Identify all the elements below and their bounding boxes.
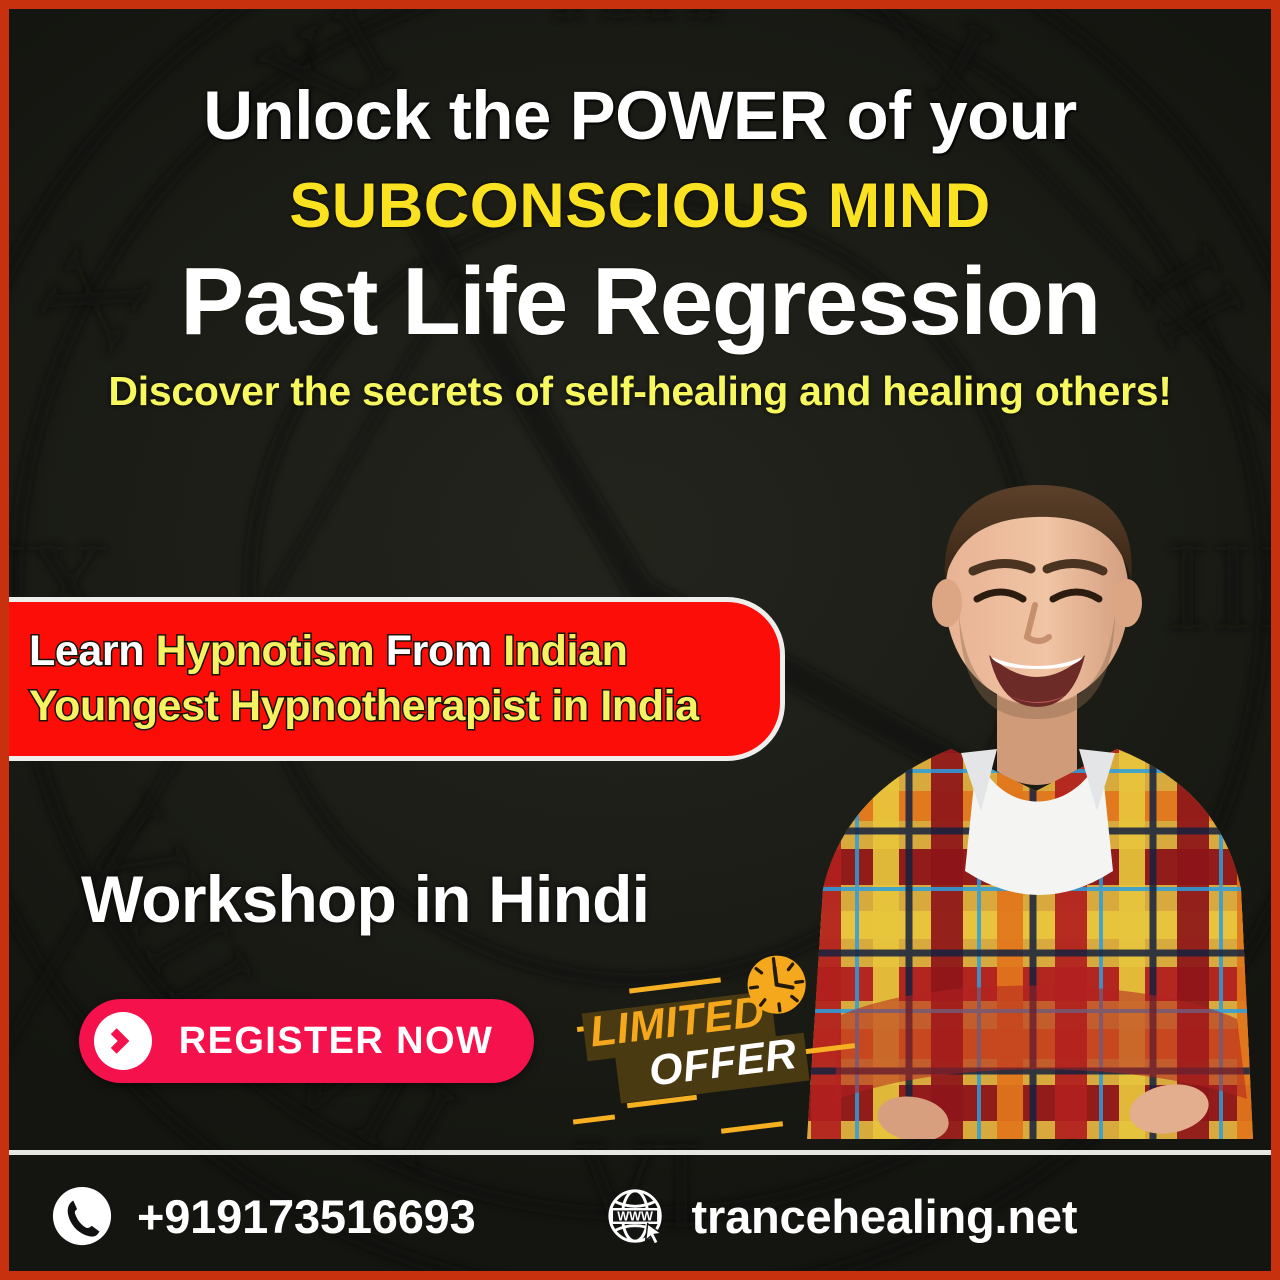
svg-text:XII: XII: [554, 9, 726, 45]
footer-divider: [9, 1150, 1271, 1155]
headline-block: Unlock the POWER of your SUBCONSCIOUS MI…: [9, 79, 1271, 415]
contact-website[interactable]: WWW trancehealing.net: [606, 1185, 1078, 1247]
chevron-right-icon: [94, 1012, 152, 1070]
credential-text-indian: Indian: [503, 627, 627, 675]
footer: +919173516693 WWW trancehealing.: [9, 1161, 1271, 1271]
limited-offer-badge: LIMITED OFFER: [569, 977, 839, 1122]
globe-www-icon: WWW: [606, 1185, 668, 1247]
credential-banner-line-1: Learn Hypnotism From Indian: [29, 624, 780, 679]
credential-text-from: From: [374, 627, 503, 675]
credential-text-hypnotism: Hypnotism: [156, 627, 375, 675]
credential-banner-line-2: Youngest Hypnotherapist in India: [29, 679, 780, 734]
headline-line-2: SUBCONSCIOUS MIND: [9, 172, 1271, 240]
phone-number: +919173516693: [137, 1189, 476, 1244]
contact-phone[interactable]: +919173516693: [51, 1185, 476, 1247]
clock-icon: [742, 950, 811, 1019]
svg-text:WWW: WWW: [617, 1209, 653, 1223]
register-now-label: REGISTER NOW: [152, 1020, 534, 1063]
headline-tagline: Discover the secrets of self-healing and…: [9, 368, 1271, 415]
presenter-photo: [801, 419, 1271, 1139]
register-now-button[interactable]: REGISTER NOW: [79, 999, 534, 1083]
headline-line-1: Unlock the POWER of your: [9, 79, 1271, 154]
workshop-language-label: Workshop in Hindi: [81, 861, 649, 937]
poster: XII I II III IIII V VI VII VIII IX X XI: [0, 0, 1280, 1280]
website-url: trancehealing.net: [692, 1189, 1078, 1244]
page-title: Past Life Regression: [9, 252, 1271, 353]
credential-banner: Learn Hypnotism From Indian Youngest Hyp…: [0, 597, 785, 761]
credential-text-learn: Learn: [29, 627, 156, 675]
phone-icon: [51, 1185, 113, 1247]
